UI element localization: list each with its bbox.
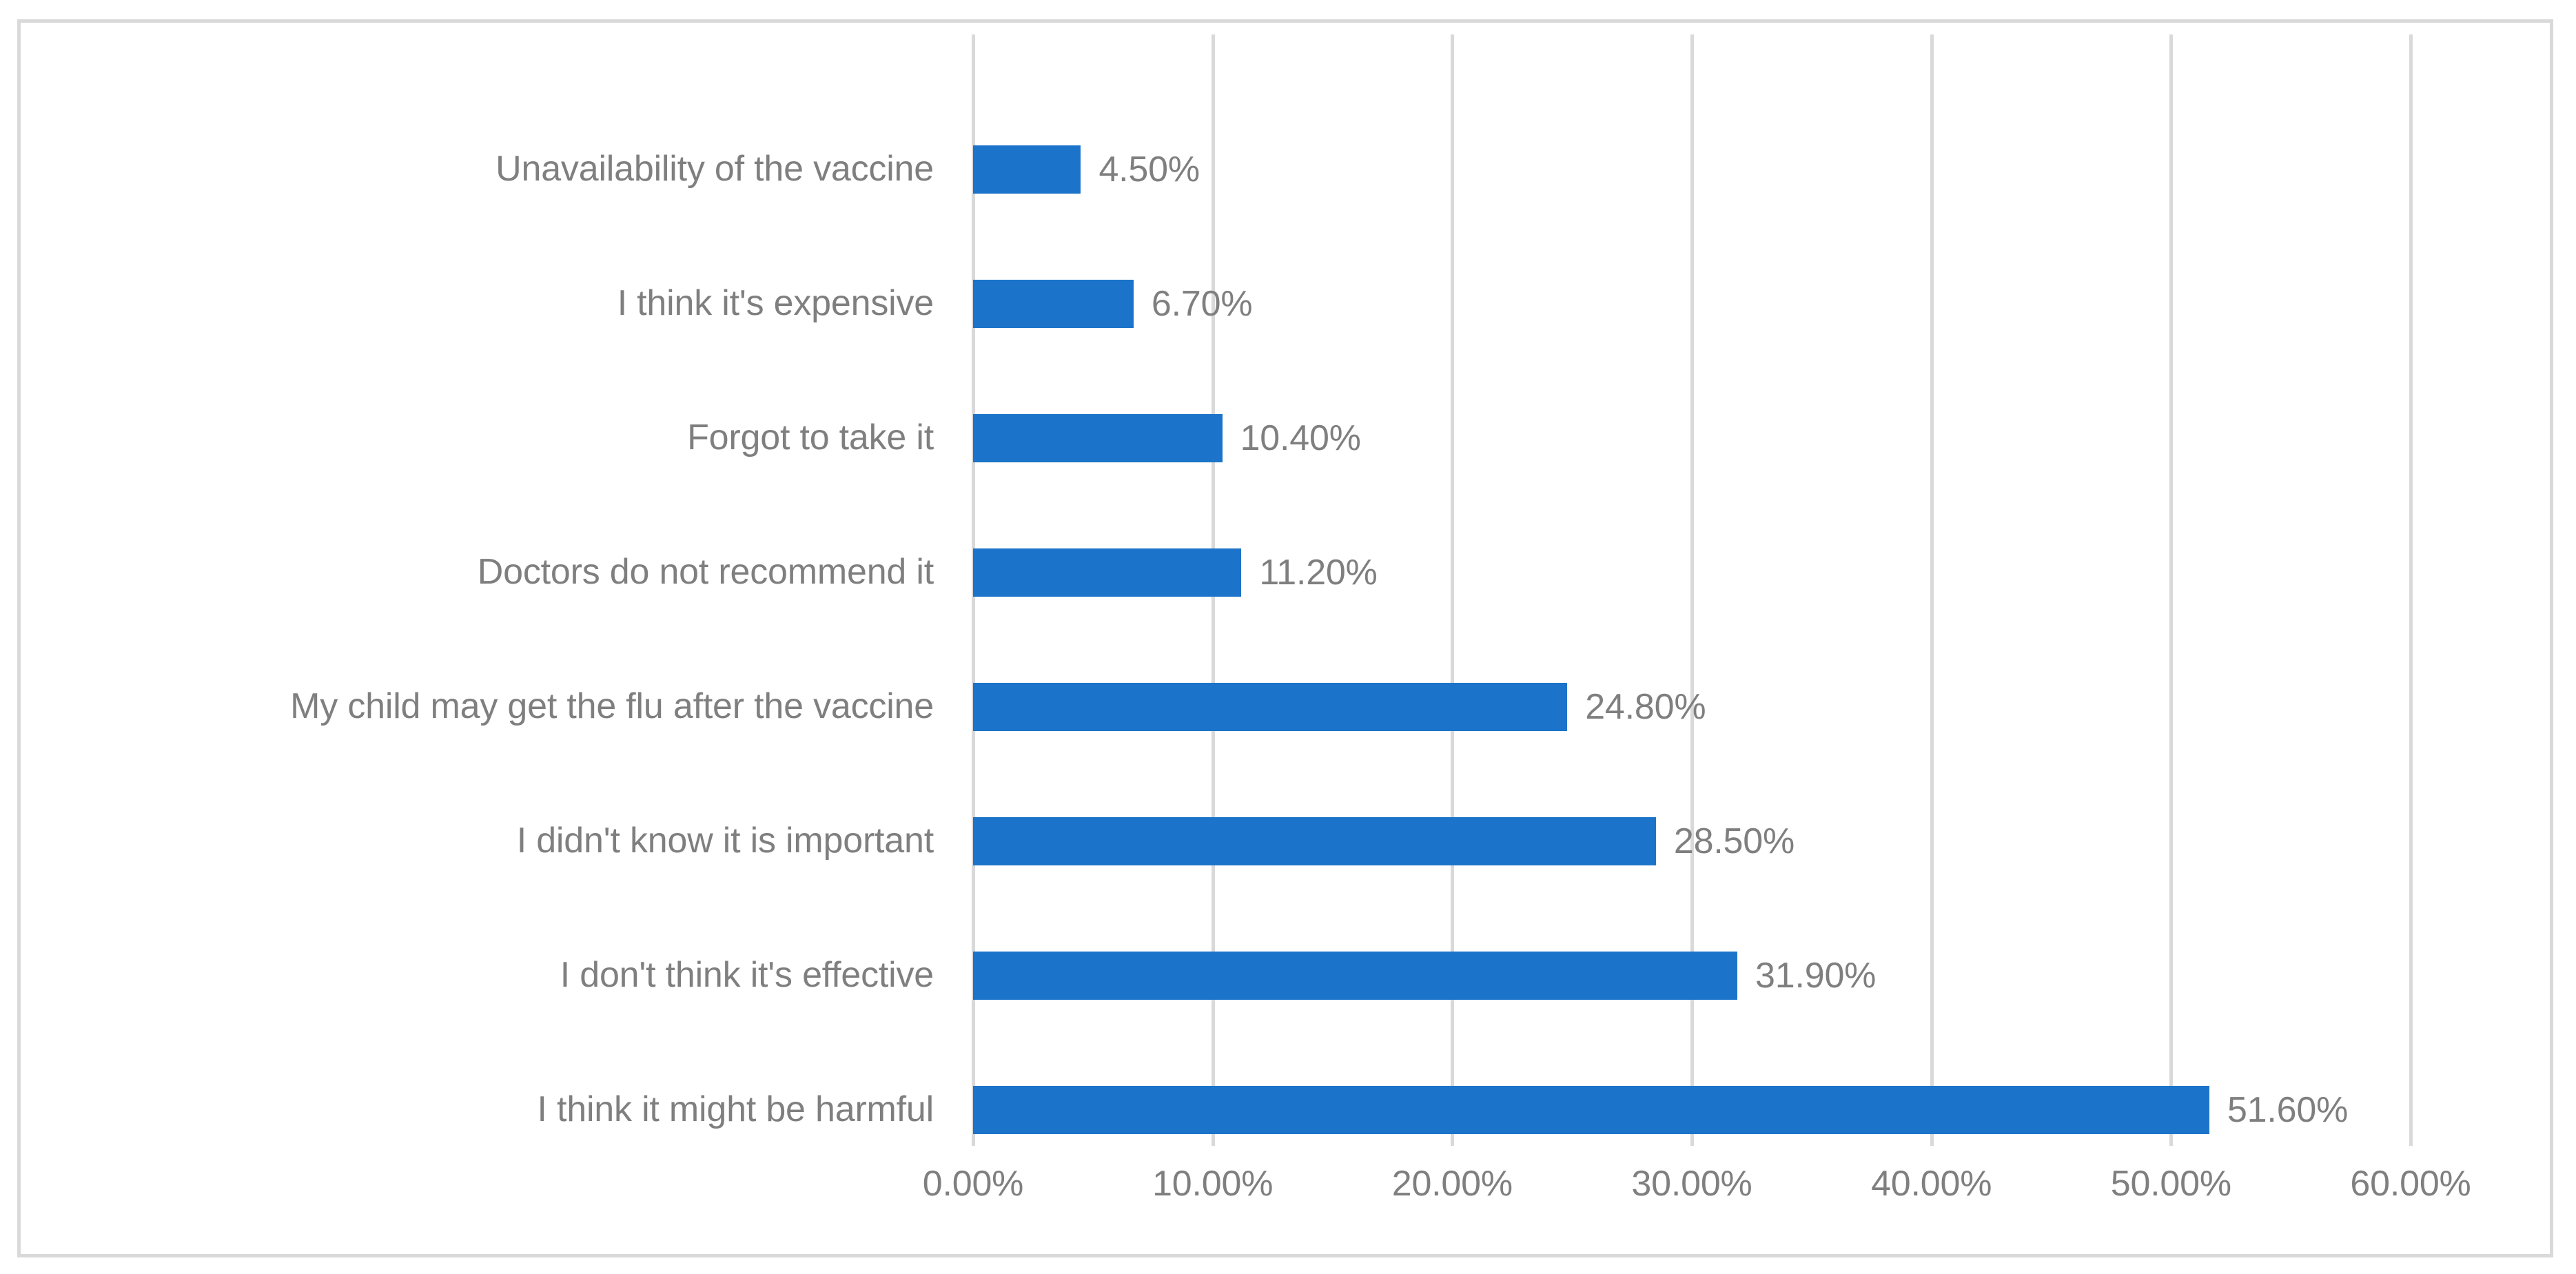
- bar[interactable]: [973, 683, 1567, 731]
- x-tick-label: 10.00%: [1152, 1163, 1273, 1204]
- x-tick-label: 20.00%: [1392, 1163, 1513, 1204]
- bar-with-label: 11.20%: [973, 505, 1378, 639]
- bar[interactable]: [973, 414, 1223, 462]
- bar-row: I think it's expensive6.70%: [21, 236, 2550, 371]
- bar-value-label: 6.70%: [1152, 283, 1252, 325]
- bar-with-label: 51.60%: [973, 1042, 2348, 1177]
- bar-value-label: 31.90%: [1755, 955, 1876, 996]
- bar-with-label: 10.40%: [973, 371, 1361, 505]
- bar-row: Unavailability of the vaccine4.50%: [21, 102, 2550, 236]
- bar-row: My child may get the flu after the vacci…: [21, 639, 2550, 774]
- bar-value-label: 28.50%: [1674, 821, 1795, 862]
- bar[interactable]: [973, 817, 1656, 865]
- bar[interactable]: [973, 280, 1134, 328]
- bar-with-label: 4.50%: [973, 102, 1200, 236]
- bar[interactable]: [973, 952, 1737, 1000]
- x-tick-label: 50.00%: [2111, 1163, 2231, 1204]
- bar[interactable]: [973, 1086, 2209, 1134]
- category-label: I think it might be harmful: [537, 1042, 934, 1177]
- bar-with-label: 24.80%: [973, 639, 1706, 774]
- category-label: Forgot to take it: [687, 371, 934, 505]
- category-label: I think it's expensive: [617, 236, 934, 371]
- x-tick-label: 60.00%: [2350, 1163, 2471, 1204]
- category-label: My child may get the flu after the vacci…: [290, 639, 934, 774]
- chart-plot-area: Unavailability of the vaccine4.50%I thin…: [21, 23, 2550, 1254]
- bar-with-label: 28.50%: [973, 774, 1795, 908]
- bar-with-label: 6.70%: [973, 236, 1252, 371]
- category-label: Unavailability of the vaccine: [495, 102, 934, 236]
- bar-with-label: 31.90%: [973, 908, 1876, 1042]
- bar-value-label: 10.40%: [1240, 418, 1361, 459]
- bar-row: I didn't know it is important28.50%: [21, 774, 2550, 908]
- bar-value-label: 51.60%: [2227, 1089, 2348, 1131]
- bar[interactable]: [973, 548, 1241, 597]
- category-label: I don't think it's effective: [560, 908, 934, 1042]
- bar[interactable]: [973, 145, 1081, 194]
- x-tick-label: 0.00%: [923, 1163, 1023, 1204]
- category-label: I didn't know it is important: [517, 774, 934, 908]
- category-label: Doctors do not recommend it: [478, 505, 934, 639]
- x-tick-label: 40.00%: [1871, 1163, 1992, 1204]
- bar-row: Doctors do not recommend it11.20%: [21, 505, 2550, 639]
- x-tick-label: 30.00%: [1631, 1163, 1752, 1204]
- bar-value-label: 4.50%: [1098, 149, 1199, 190]
- bar-row: Forgot to take it10.40%: [21, 371, 2550, 505]
- bar-row: I don't think it's effective31.90%: [21, 908, 2550, 1042]
- chart-card: Unavailability of the vaccine4.50%I thin…: [17, 19, 2553, 1257]
- bar-value-label: 24.80%: [1585, 686, 1706, 728]
- bar-value-label: 11.20%: [1259, 552, 1377, 593]
- bar-row: I think it might be harmful51.60%: [21, 1042, 2550, 1177]
